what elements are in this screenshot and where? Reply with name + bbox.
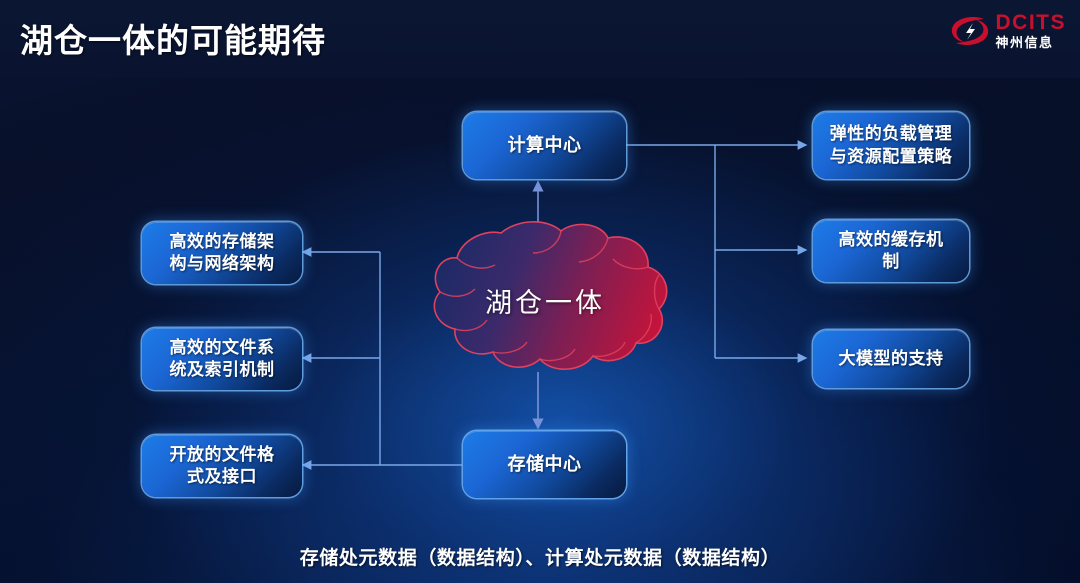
node-label-line1: 开放的文件格 [170,444,275,466]
node-cache-mechanism[interactable]: 高效的缓存机 制 [813,220,969,282]
node-elastic-workload[interactable]: 弹性的负载管理 与资源配置策略 [813,112,969,179]
dcits-swoosh-icon [950,14,990,48]
node-large-model-support[interactable]: 大模型的支持 [813,330,969,388]
page-title: 湖仓一体的可能期待 [20,14,326,62]
node-label-line2: 制 [839,251,944,273]
node-label-line1: 高效的存储架 [170,231,275,253]
node-label-line1: 弹性的负载管理 [830,123,953,145]
node-storage-architecture[interactable]: 高效的存储架 构与网络架构 [142,222,302,284]
slide-caption: 存储处元数据（数据结构）、计算处元数据（数据结构） [0,543,1080,570]
node-label-line2: 与资源配置策略 [830,146,953,168]
node-label-line1: 高效的缓存机 [839,229,944,251]
node-storage-center[interactable]: 存储中心 [463,431,626,498]
node-open-file-format[interactable]: 开放的文件格 式及接口 [142,435,302,497]
center-cloud: 湖仓一体 [405,213,685,388]
slide-canvas: 湖仓一体的可能期待 DCITS 神州信息 [0,0,1080,583]
node-label-line1: 大模型的支持 [839,348,944,370]
node-label: 存储中心 [508,453,582,477]
node-compute-center[interactable]: 计算中心 [463,112,626,179]
cloud-label: 湖仓一体 [405,213,685,388]
node-label-line2: 式及接口 [170,466,275,488]
node-file-system[interactable]: 高效的文件系 统及索引机制 [142,328,302,390]
logo-cn-label: 神州信息 [996,36,1067,49]
node-label: 计算中心 [508,134,582,158]
logo-text: DCITS 神州信息 [996,12,1067,49]
node-label-line1: 高效的文件系 [170,337,275,359]
node-label-line2: 构与网络架构 [170,253,275,275]
node-label-line2: 统及索引机制 [170,359,275,381]
logo-en-label: DCITS [996,12,1067,33]
brand-logo: DCITS 神州信息 [950,12,1067,49]
